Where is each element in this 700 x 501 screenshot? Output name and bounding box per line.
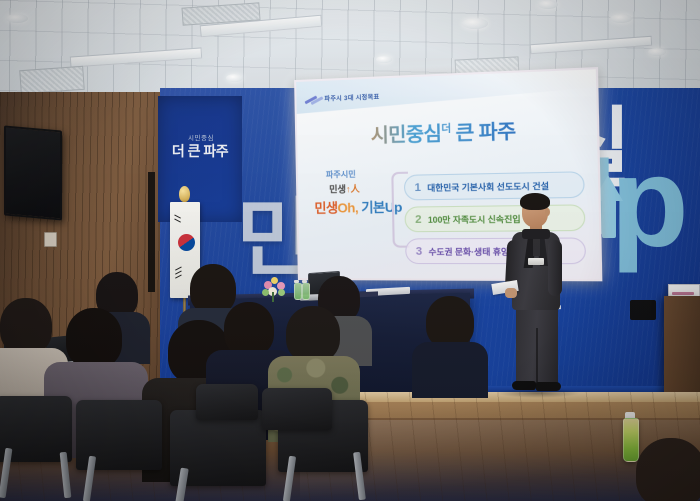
audience-head [426,296,474,348]
presenter [500,196,570,396]
presenter-collar [522,229,550,239]
slide-logo-mins: 민생 [314,200,337,215]
slide-logo-line2-a: 민생 [329,184,346,194]
ceiling-downlight [462,18,488,29]
flag-finial [179,186,190,202]
slide-title-rest: 큰 파주 [455,121,515,145]
audience-head [636,438,700,501]
slide-bullet-1-number: 1 [414,181,421,193]
presenter-name-badge [528,258,544,265]
up-arrow-stem-icon [602,196,616,238]
slide-logo-line2-b: ↑人 [346,184,360,194]
wall-dark-groove [148,172,155,292]
bottle-cap [294,280,299,283]
ceiling-downlight [538,0,558,9]
bottle-cap [302,280,307,283]
audience-head [0,298,52,354]
presenter-hand [505,288,517,298]
lectern [664,296,700,404]
audience-head [66,308,122,368]
water-bottle [302,283,310,300]
water-bottle [294,283,302,300]
side-monitor [630,300,656,320]
audience-torso [412,342,488,398]
flat-screen-display [4,125,62,220]
slide-logo-line1: 파주시민 [326,169,356,181]
audience-head [286,306,340,362]
slide-bullet-1-text: 대한민국 기본사회 선도도시 건설 [427,179,549,194]
flower-stem [272,292,274,302]
ceiling-downlight [648,48,666,56]
ceiling-downlight [6,14,28,23]
audience-chair[interactable] [196,384,258,420]
ceiling-downlight [226,74,243,82]
presenter-ear [545,208,550,216]
ceiling-downlight [376,56,392,63]
presenter-leg-split [536,328,538,384]
presenter-arm-right [548,240,562,296]
ceiling-downlight [610,14,632,23]
ceiling-vent [19,66,85,94]
flower-arrangement [262,277,288,299]
green-beverage-bottle [623,418,639,462]
audience-head [190,264,236,314]
slide-logo-oh: Oh, [337,200,358,215]
slide-logo-line3: 민생Oh, 기본Up [314,196,402,216]
slide-bullet-3-number: 3 [416,245,423,257]
slide-title-main: 시민중심 [371,123,442,147]
slide-logo-gibon: 기본 [361,200,385,216]
taeguk-symbol-icon [178,234,195,251]
conference-hall-photo: 민 실 Up 실 시민중심 더 큰 파주 파주시 3대 시정목표 시민중심더 큰… [0,0,700,501]
banner-title: 더 큰 파주 [160,141,240,161]
podium-sign-line [672,292,694,295]
slide-title-sup: 더 [441,124,450,136]
slide-title: 시민중심더 큰 파주 [297,113,597,150]
light-switch[interactable] [44,232,57,247]
audience-chair[interactable] [262,388,332,430]
slide-bullet-2-number: 2 [415,213,422,225]
audience-head [224,302,274,356]
slide-logo-line2: 민생↑人 [329,182,360,196]
presenter-shoe-right [536,382,561,391]
presenter-shoe-left [512,381,536,390]
